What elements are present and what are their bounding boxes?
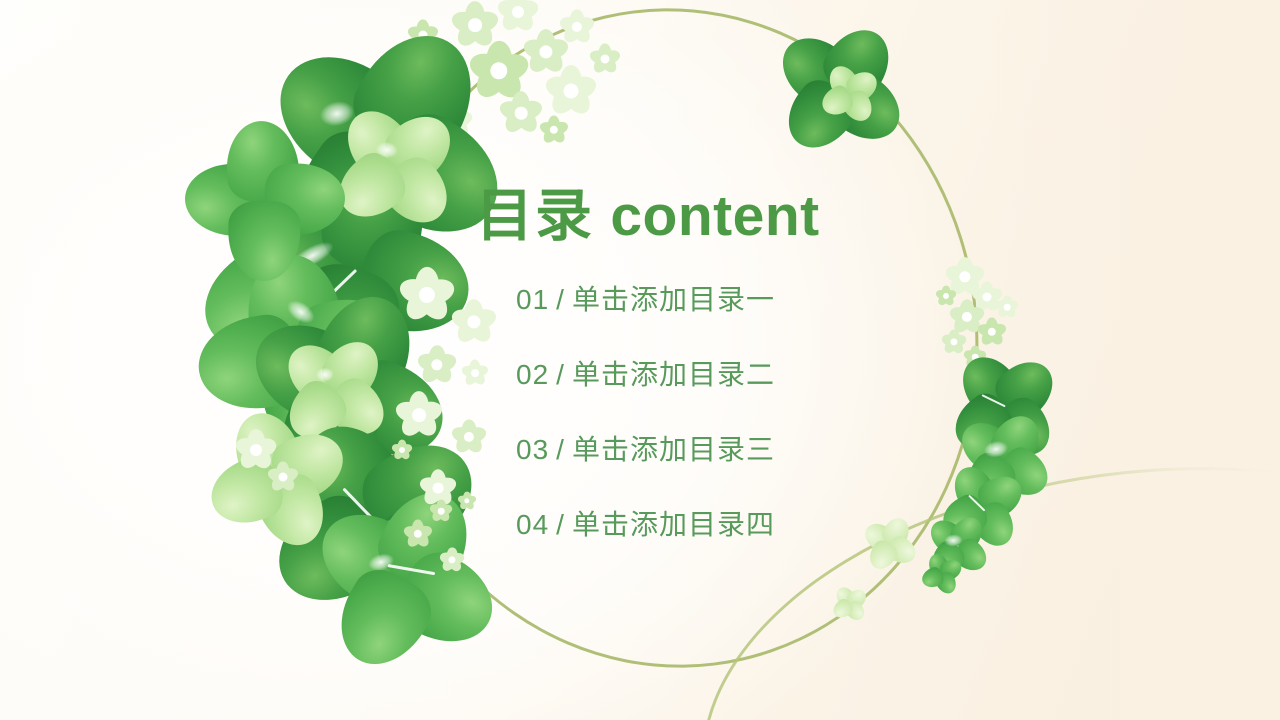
content-block: 目录 content 01/单击添加目录一 02/单击添加目录二 03/单击添加… (476, 186, 996, 539)
toc-item-separator: / (549, 284, 572, 315)
toc-item-4[interactable]: 04/单击添加目录四 (516, 511, 996, 539)
toc-item-label: 单击添加目录四 (572, 509, 775, 540)
clover-icon (832, 586, 868, 622)
toc-item-number: 02 (516, 359, 549, 390)
toc-item-separator: / (549, 509, 572, 540)
toc-item-label: 单击添加目录二 (572, 359, 775, 390)
toc-item-number: 03 (516, 434, 549, 465)
clover-icon (334, 106, 457, 229)
page-title: 目录 content (476, 186, 996, 248)
toc-item-number: 04 (516, 509, 549, 540)
toc-item-label: 单击添加目录三 (572, 434, 775, 465)
page-title-cn: 目录 (476, 184, 594, 248)
toc-item-number: 01 (516, 284, 549, 315)
toc-list: 01/单击添加目录一 02/单击添加目录二 03/单击添加目录三 04/单击添加… (516, 286, 996, 539)
page-title-en: content (610, 184, 819, 248)
toc-item-3[interactable]: 03/单击添加目录三 (516, 436, 996, 464)
toc-item-2[interactable]: 02/单击添加目录二 (516, 361, 996, 389)
toc-item-separator: / (549, 434, 572, 465)
toc-item-separator: / (549, 359, 572, 390)
toc-item-1[interactable]: 01/单击添加目录一 (516, 286, 996, 314)
toc-item-label: 单击添加目录一 (572, 284, 775, 315)
slide-canvas: 目录 content 01/单击添加目录一 02/单击添加目录二 03/单击添加… (0, 0, 1280, 720)
